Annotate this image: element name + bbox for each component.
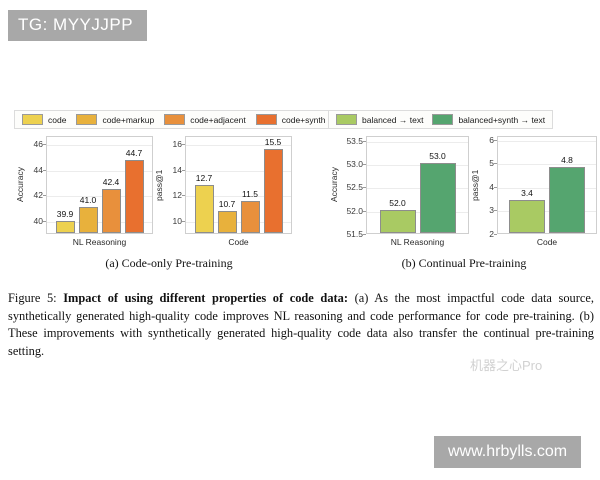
y-tick-label: 16 xyxy=(173,139,182,149)
y-tick-label: 52.5 xyxy=(346,182,363,192)
subcaption-a: (a) Code-only Pre-training xyxy=(14,256,324,271)
y-tick-label: 44 xyxy=(34,165,43,175)
x-axis-label: Code xyxy=(497,237,597,247)
bar-group: 52.053.0 xyxy=(367,137,468,233)
y-tick-label: 6 xyxy=(489,135,494,145)
y-tick-label: 42 xyxy=(34,190,43,200)
y-tick-label: 10 xyxy=(173,216,182,226)
y-axis-label: pass@1 xyxy=(469,136,481,234)
bar[interactable]: 53.0 xyxy=(420,163,456,233)
legend-a-item[interactable]: code+synth xyxy=(256,114,326,125)
legend-label: code xyxy=(48,115,66,125)
plot-area: 39.941.042.444.7 xyxy=(46,136,153,234)
bar-value-label: 12.7 xyxy=(196,173,213,183)
legend-a-item[interactable]: code+adjacent xyxy=(164,114,246,125)
bar-value-label: 15.5 xyxy=(265,137,282,147)
bar[interactable]: 3.4 xyxy=(509,200,545,233)
y-tick-label: 52.0 xyxy=(346,206,363,216)
bar-group: 12.710.711.515.5 xyxy=(186,137,291,233)
bar-group: 3.44.8 xyxy=(498,137,596,233)
figure-caption: Figure 5: Impact of using different prop… xyxy=(8,290,594,360)
legend-swatch-icon xyxy=(164,114,185,125)
panel-b-subplots: Accuracy51.552.052.553.053.552.053.0NL R… xyxy=(328,136,600,247)
legend-panel-a: codecode+markupcode+adjacentcode+synth xyxy=(14,110,333,129)
plot-area: 12.710.711.515.5 xyxy=(185,136,292,234)
legend-label: code+synth xyxy=(282,115,326,125)
y-tick-label: 3 xyxy=(489,205,494,215)
y-tick-label: 46 xyxy=(34,139,43,149)
subplot-b-code: pass@1234563.44.8Code xyxy=(469,136,597,247)
bar-value-label: 53.0 xyxy=(429,151,446,161)
y-tick-label: 5 xyxy=(489,158,494,168)
legend-label: balanced+synth → text xyxy=(458,115,545,125)
bar-value-label: 39.9 xyxy=(57,209,74,219)
legend-swatch-icon xyxy=(22,114,43,125)
y-tick-label: 12 xyxy=(173,190,182,200)
y-tick-label: 51.5 xyxy=(346,229,363,239)
plot-area: 52.053.0 xyxy=(366,136,469,234)
panel-a-subplots: Accuracy4042444639.941.042.444.7NL Reaso… xyxy=(14,136,324,247)
y-axis-label: Accuracy xyxy=(328,136,340,234)
bar-value-label: 11.5 xyxy=(242,189,258,199)
plot-area: 3.44.8 xyxy=(497,136,597,234)
caption-bold-lead: Impact of using different properties of … xyxy=(63,291,348,305)
legend-panel-b: balanced → textbalanced+synth → text xyxy=(328,110,553,129)
bar[interactable]: 4.8 xyxy=(549,167,585,233)
bar[interactable]: 39.9 xyxy=(56,221,75,233)
legend-label: code+markup xyxy=(102,115,154,125)
bar-value-label: 41.0 xyxy=(80,195,97,205)
y-tick-label: 2 xyxy=(489,229,494,239)
legend-label: balanced → text xyxy=(362,115,423,125)
y-tick-label: 14 xyxy=(173,165,182,175)
bar-value-label: 52.0 xyxy=(389,198,406,208)
subcaption-b: (b) Continual Pre-training xyxy=(328,256,600,271)
x-axis-label: Code xyxy=(185,237,292,247)
website-watermark-badge: www.hrbylls.com xyxy=(434,436,581,468)
bar[interactable]: 12.7 xyxy=(195,185,214,233)
bar-value-label: 10.7 xyxy=(219,199,236,209)
bar-value-label: 42.4 xyxy=(103,177,120,187)
y-tick-label: 40 xyxy=(34,216,43,226)
bar[interactable]: 10.7 xyxy=(218,211,237,233)
bar[interactable]: 11.5 xyxy=(241,201,260,233)
x-axis-label: NL Reasoning xyxy=(366,237,469,247)
legend-swatch-icon xyxy=(256,114,277,125)
legend-swatch-icon xyxy=(432,114,453,125)
bar-value-label: 44.7 xyxy=(126,148,143,158)
y-axis-ticks: 51.552.052.553.053.5 xyxy=(340,136,366,234)
bar[interactable]: 42.4 xyxy=(102,189,121,233)
panel-b-continual-pretraining: balanced → textbalanced+synth → text Acc… xyxy=(324,110,600,271)
bar[interactable]: 41.0 xyxy=(79,207,98,233)
legend-label: code+adjacent xyxy=(190,115,246,125)
legend-b-item[interactable]: balanced+synth → text xyxy=(432,114,545,125)
figure-5: codecode+markupcode+adjacentcode+synth A… xyxy=(0,110,600,271)
bar-value-label: 4.8 xyxy=(561,155,573,165)
legend-b-item[interactable]: balanced → text xyxy=(336,114,423,125)
y-axis-label: Accuracy xyxy=(14,136,26,234)
caption-prefix: Figure 5: xyxy=(8,291,57,305)
legend-a-item[interactable]: code+markup xyxy=(76,114,154,125)
subplot-a-code: pass@11012141612.710.711.515.5Code xyxy=(153,136,292,247)
subplot-b-nl-reasoning: Accuracy51.552.052.553.053.552.053.0NL R… xyxy=(328,136,469,247)
y-axis-ticks: 23456 xyxy=(481,136,497,234)
bar-group: 39.941.042.444.7 xyxy=(47,137,152,233)
bar[interactable]: 52.0 xyxy=(380,210,416,233)
legend-swatch-icon xyxy=(336,114,357,125)
bar[interactable]: 44.7 xyxy=(125,160,144,234)
bar[interactable]: 15.5 xyxy=(264,149,283,233)
bar-value-label: 3.4 xyxy=(521,188,533,198)
legend-swatch-icon xyxy=(76,114,97,125)
y-axis-ticks: 10121416 xyxy=(165,136,185,234)
y-axis-ticks: 40424446 xyxy=(26,136,46,234)
telegram-watermark-badge: TG: MYYJJPP xyxy=(8,10,147,41)
figure-panels: codecode+markupcode+adjacentcode+synth A… xyxy=(0,110,600,271)
x-axis-label: NL Reasoning xyxy=(46,237,153,247)
subplot-a-nl-reasoning: Accuracy4042444639.941.042.444.7NL Reaso… xyxy=(14,136,153,247)
y-tick-label: 4 xyxy=(489,182,494,192)
legend-a-item[interactable]: code xyxy=(22,114,66,125)
y-axis-label: pass@1 xyxy=(153,136,165,234)
y-tick-label: 53.0 xyxy=(346,159,363,169)
y-tick-label: 53.5 xyxy=(346,136,363,146)
panel-a-code-only-pretraining: codecode+markupcode+adjacentcode+synth A… xyxy=(0,110,324,271)
